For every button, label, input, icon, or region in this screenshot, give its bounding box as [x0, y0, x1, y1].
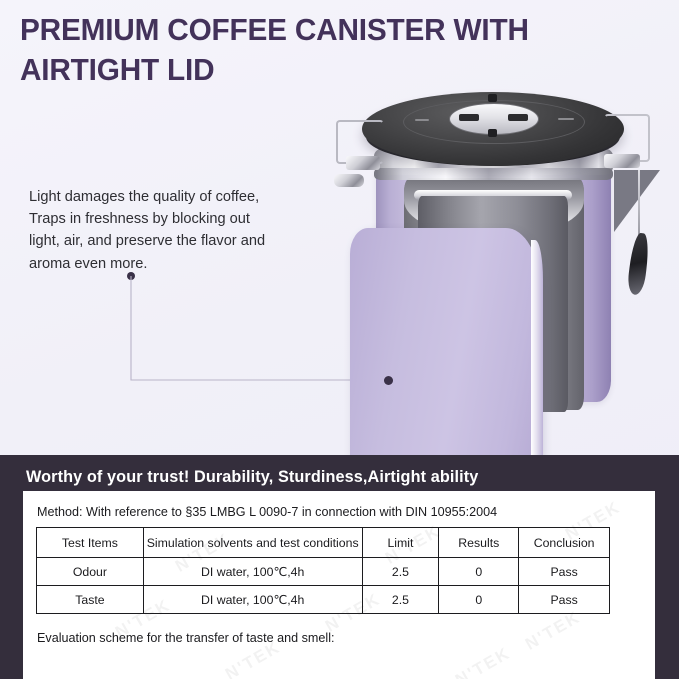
cell-conditions: DI water, 100℃,4h: [143, 586, 362, 614]
cell-test-item: Taste: [37, 586, 144, 614]
cell-conclusion: Pass: [519, 586, 610, 614]
valve-tab-bottom: [488, 129, 497, 137]
watermark: N'TEK: [522, 607, 584, 654]
trust-banner-title: Worthy of your trust! Durability, Sturdi…: [26, 468, 478, 487]
clamp-bracket-right: [604, 154, 640, 168]
table-row: Odour DI water, 100℃,4h 2.5 0 Pass: [37, 558, 610, 586]
test-method-line: Method: With reference to §35 LMBG L 009…: [37, 505, 497, 519]
test-report-card: N'TEK N'TEK N'TEK N'TEK N'TEK N'TEK N'TE…: [23, 491, 655, 679]
table-row: Taste DI water, 100℃,4h 2.5 0 Pass: [37, 586, 610, 614]
test-results-table: Test Items Simulation solvents and test …: [36, 527, 610, 614]
column-header: Conclusion: [519, 528, 610, 558]
table-header-row: Test Items Simulation solvents and test …: [37, 528, 610, 558]
lid-tick-right-icon: [558, 118, 574, 120]
valve-slot-right: [508, 114, 528, 121]
canister-illustration: [318, 78, 679, 456]
evaluation-scheme-line: Evaluation scheme for the transfer of ta…: [37, 631, 335, 645]
valve-tab-top: [488, 94, 497, 102]
cell-conclusion: Pass: [519, 558, 610, 586]
column-header: Test Items: [37, 528, 144, 558]
watermark: N'TEK: [452, 643, 514, 679]
scoop-handle: [638, 170, 640, 238]
cell-results: 0: [439, 558, 519, 586]
callout-target-dot: [384, 376, 393, 385]
clamp-latch-left: [334, 174, 364, 187]
lid-tick-left-icon: [415, 119, 429, 121]
cell-limit: 2.5: [362, 586, 439, 614]
product-marketing-image: Premium coffee canister with airtight li…: [0, 0, 679, 679]
scoop-icon: [626, 232, 650, 296]
feature-callout-text: Light damages the quality of coffee, Tra…: [29, 186, 329, 275]
column-header: Limit: [362, 528, 439, 558]
clamp-bracket-left: [346, 156, 380, 170]
clamp-plate-right: [614, 170, 660, 232]
cell-results: 0: [439, 586, 519, 614]
valve-slot-left: [459, 114, 479, 121]
column-header: Results: [439, 528, 519, 558]
cell-test-item: Odour: [37, 558, 144, 586]
chrome-band-lower: [374, 168, 613, 180]
column-header: Simulation solvents and test conditions: [143, 528, 362, 558]
cell-conditions: DI water, 100℃,4h: [143, 558, 362, 586]
cell-limit: 2.5: [362, 558, 439, 586]
